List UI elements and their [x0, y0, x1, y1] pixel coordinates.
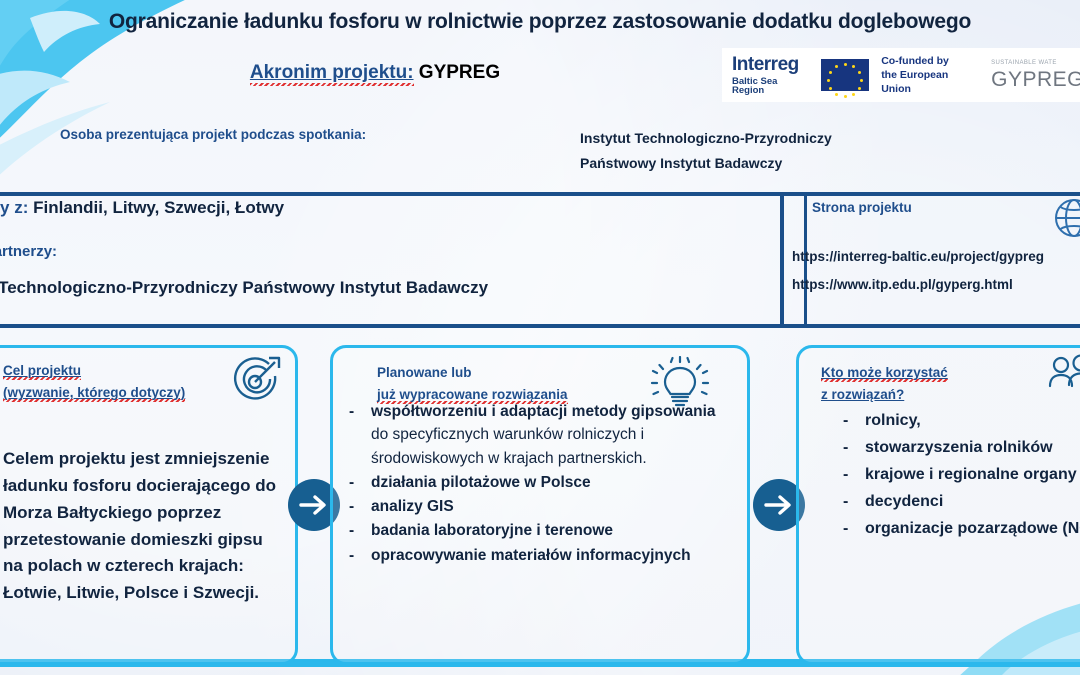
partners-countries: Partnerzy z: Finlandii, Litwy, Szwecji, … [0, 198, 284, 218]
card-project-goal-heading: Cel projektu (wyzwanie, którego dotyczy) [3, 360, 185, 405]
list-item-text: działania pilotażowe w Polsce [371, 471, 591, 494]
list-item-text: decydenci [865, 489, 943, 515]
website-url-1[interactable]: https://interreg-baltic.eu/project/gypre… [792, 243, 1044, 271]
list-item: -organizacje pozarządowe (NGO) [843, 516, 1080, 542]
card-project-goal-heading-line2: (wyzwanie, którego dotyczy) [3, 385, 185, 400]
gypreg-logo-tagline: SUSTAINABLE WATE [991, 60, 1080, 66]
partners-countries-label: Partnerzy z: [0, 198, 28, 217]
acronym-label: Akronim projektu: [250, 62, 414, 86]
acronym-line: Akronim projektu: GYPREG [0, 62, 750, 84]
presenter-name: Instytut Technologiczno-Przyrodniczy Pań… [580, 126, 832, 175]
list-item-text: rolnicy, [865, 408, 921, 434]
eu-funding-text: Co-funded by the European Union [881, 54, 977, 97]
list-item: -współtworzeniu i adaptacji metody gipso… [349, 400, 737, 470]
list-item-text: opracowywanie materiałów informacyjnych [371, 544, 691, 567]
website-url-2[interactable]: https://www.itp.edu.pl/gyperg.html [792, 271, 1044, 299]
card-project-goal: Cel projektu (wyzwanie, którego dotyczy)… [0, 345, 298, 665]
list-item-dash: - [843, 408, 851, 434]
list-item: -decydenci [843, 489, 1080, 515]
arrow-right-icon [764, 494, 794, 516]
acronym-value: GYPREG [419, 62, 500, 83]
list-item-text: badania laboratoryjne i terenowe [371, 519, 613, 542]
gypreg-logo: SUSTAINABLE WATE GYPREG [991, 60, 1080, 90]
card-beneficiaries-heading: Kto może korzystać z rozwiązań? [821, 362, 948, 407]
partners-countries-value: Finlandii, Litwy, Szwecji, Łotwy [33, 198, 284, 217]
list-item-dash: - [843, 489, 851, 515]
card-beneficiaries-list: -rolnicy,-stowarzyszenia rolników-krajow… [843, 408, 1080, 543]
list-item: -rolnicy, [843, 408, 1080, 434]
eu-flag-icon [821, 59, 869, 91]
list-item-text: analizy GIS [371, 495, 454, 518]
presenter-name-line2: Państwowy Instytut Badawczy [580, 151, 832, 176]
page-title: Ograniczanie ładunku fosforu w rolnictwi… [0, 10, 1080, 34]
list-item-dash: - [349, 544, 357, 567]
band-vertical-divider [780, 196, 784, 324]
card-beneficiaries: Kto może korzystać z rozwiązań? -rolnicy… [796, 345, 1080, 665]
list-item-text: stowarzyszenia rolników [865, 435, 1053, 461]
list-item-dash: - [349, 519, 357, 542]
list-item: -opracowywanie materiałów informacyjnych [349, 544, 737, 567]
band-rule-top [0, 192, 1080, 196]
card-beneficiaries-heading-line1: Kto może korzystać [821, 365, 948, 380]
target-arrow-icon [229, 354, 285, 406]
card-solutions-list: -współtworzeniu i adaptacji metody gipso… [349, 400, 737, 568]
eu-funding-line1: Co-funded by [881, 54, 977, 68]
list-item-text: krajowe i regionalne organy publiczne [865, 462, 1080, 488]
card-project-goal-heading-line1: Cel projektu [3, 363, 81, 378]
list-item: -działania pilotażowe w Polsce [349, 471, 737, 494]
card-solutions-heading-line1: Planowane lub [377, 362, 568, 384]
card-beneficiaries-heading-line2: z rozwiązań? [821, 387, 904, 402]
globe-icon [1052, 196, 1080, 240]
list-item-dash: - [843, 435, 851, 461]
list-item-text-normal: do specyficznych warunków rolniczych i ś… [371, 426, 647, 466]
presenter-label: Osoba prezentująca projekt podczas spotk… [60, 127, 366, 142]
interreg-logo-region: Baltic Sea Region [732, 77, 809, 96]
list-item-dash: - [843, 516, 851, 542]
card-solutions: Planowane lub już wypracowane rozwiązani… [330, 345, 750, 665]
list-item-dash: - [349, 495, 357, 518]
eu-funding-line2: the European Union [881, 68, 977, 96]
list-item: -krajowe i regionalne organy publiczne [843, 462, 1080, 488]
partners-polish-value: Instytut Technologiczno-Przyrodniczy Pań… [0, 278, 488, 298]
list-item: -analizy GIS [349, 495, 737, 518]
people-group-icon [1047, 354, 1080, 406]
website-panel-title: Strona projektu [812, 200, 912, 215]
list-item: -stowarzyszenia rolników [843, 435, 1080, 461]
slide-canvas: Ograniczanie ładunku fosforu w rolnictwi… [0, 0, 1080, 675]
card-project-goal-body: Celem projektu jest zmniejszenie ładunku… [3, 446, 287, 607]
list-item-dash: - [843, 462, 851, 488]
website-url-list: https://interreg-baltic.eu/project/gypre… [792, 243, 1044, 298]
list-item: -badania laboratoryjne i terenowe [349, 519, 737, 542]
list-item-dash: - [349, 471, 357, 494]
logo-bar: Interreg Baltic Sea Region Co-funded by … [722, 48, 1080, 102]
interreg-logo: Interreg Baltic Sea Region [732, 55, 809, 96]
list-item-text: współtworzeniu i adaptacji metody gipsow… [371, 400, 737, 470]
arrow-right-icon [299, 494, 329, 516]
list-item-dash: - [349, 400, 357, 470]
list-item-text: organizacje pozarządowe (NGO) [865, 516, 1080, 542]
presenter-name-line1: Instytut Technologiczno-Przyrodniczy [580, 126, 832, 151]
gypreg-logo-name: GYPREG [991, 69, 1080, 90]
interreg-logo-name: Interreg [732, 55, 809, 74]
band-rule-bottom [0, 324, 1080, 328]
partners-polish-label: Polscy partnerzy: [0, 243, 57, 260]
